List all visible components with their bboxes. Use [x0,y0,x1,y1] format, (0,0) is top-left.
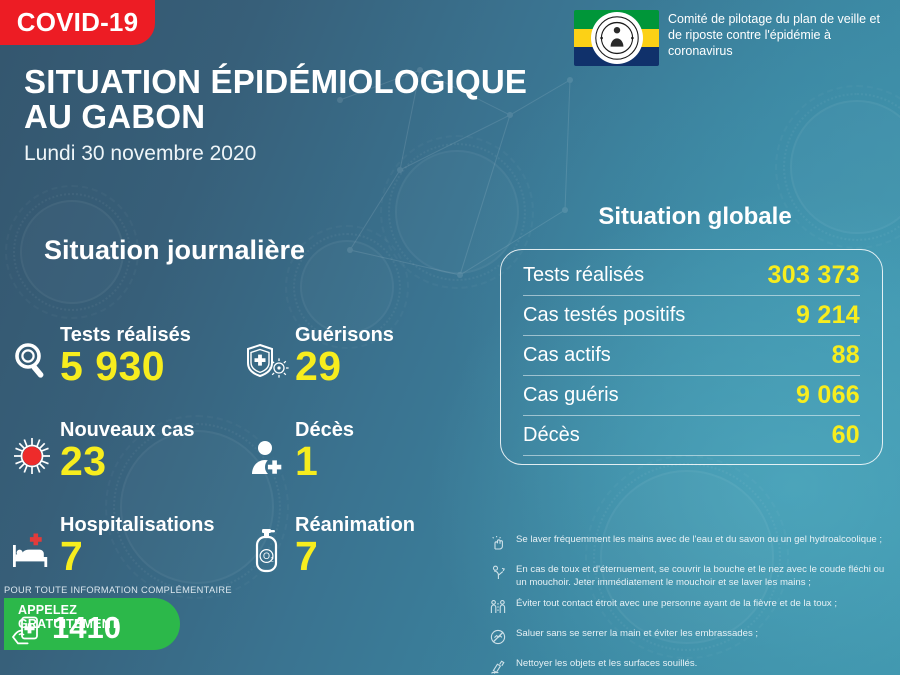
daily-stat-value: 29 [295,346,394,387]
prevention-item: En cas de toux et d'éternuement, se couv… [490,564,890,590]
prevention-item: Nettoyer les objets et les surfaces soui… [490,658,890,675]
seal-inner-icon [594,15,640,61]
global-row-label: Cas actifs [523,344,611,367]
report-date: Lundi 30 novembre 2020 [24,142,527,166]
prevention-item: Se laver fréquemment les mains avec de l… [490,534,890,556]
daily-row: Nouveaux cas 23 Décès 1 [8,387,478,482]
cough-elbow-icon [490,564,509,586]
global-row: Tests réalisés 303 373 [523,256,860,296]
virus-icon [8,422,56,482]
distance-icon [490,598,509,620]
daily-stat-icu: O 2 Réanimation 7 [243,482,478,577]
global-row-label: Cas testés positifs [523,304,685,327]
daily-section-title: Situation journalière [44,235,305,266]
covid-badge-label: COVID-19 [17,7,139,38]
global-row-label: Tests réalisés [523,264,644,287]
daily-row: Hospitalisations 7 O 2 [8,482,478,577]
person-cross-icon [243,422,291,482]
daily-stats-grid: Tests réalisés 5 930 [8,292,478,577]
shield-cross-virus-icon [243,327,291,387]
title-block: SITUATION ÉPIDÉMIOLOGIQUE AU GABON Lundi… [24,64,527,166]
daily-stat-value: 1 [295,441,354,482]
daily-stat-value: 23 [60,441,195,482]
prevention-text: Saluer sans se serrer la main et éviter … [516,628,758,641]
wash-hands-icon [490,534,509,556]
svg-text:O: O [263,551,270,561]
global-row: Cas actifs 88 [523,336,860,376]
prevention-text: Se laver fréquemment les mains avec de l… [516,534,882,547]
global-section-title: Situation globale [495,203,895,231]
page-title-line1: SITUATION ÉPIDÉMIOLOGIQUE [24,64,527,99]
gabon-coat-of-arms-icon [574,10,659,66]
clean-surface-icon [490,658,509,675]
covid-badge: COVID-19 [0,0,155,45]
global-row: Cas testés positifs 9 214 [523,296,860,336]
daily-stat-value: 5 930 [60,346,191,387]
daily-stat-recoveries: Guérisons 29 [243,292,478,387]
daily-stat-hospitalizations: Hospitalisations 7 [8,482,243,577]
global-row-label: Décès [523,424,580,447]
prevention-text: En cas de toux et d'éternuement, se couv… [516,564,890,590]
daily-stat-value: 7 [295,536,415,577]
hospital-bed-icon [8,517,56,577]
global-row-value: 60 [832,421,860,450]
daily-stat-new-cases: Nouveaux cas 23 [8,387,243,482]
global-row-value: 9 066 [796,381,860,410]
call-info-label: POUR TOUTE INFORMATION COMPLÉMENTAIRE [4,585,232,595]
prevention-text: Éviter tout contact étroit avec une pers… [516,598,837,611]
committee-logo: Comité de pilotage du plan de veille et … [574,10,886,66]
prevention-list: Se laver fréquemment les mains avec de l… [490,534,890,675]
daily-row: Tests réalisés 5 930 [8,292,478,387]
global-row-label: Cas guéris [523,384,619,407]
daily-stat-deaths: Décès 1 [243,387,478,482]
page-title-line2: AU GABON [24,99,527,134]
prevention-item: Saluer sans se serrer la main et éviter … [490,628,890,650]
daily-stat-label: Hospitalisations [60,515,214,536]
hotline-number: 1410 [52,612,121,643]
prevention-item: Éviter tout contact étroit avec une pers… [490,598,890,620]
global-row: Décès 60 [523,416,860,456]
covid-infographic: COVID-19 SITUATION ÉPIDÉMIOLOGIQUE AU GA… [0,0,900,675]
global-row-value: 9 214 [796,301,860,330]
global-section-title-label: Situation globale [598,203,791,230]
prevention-text: Nettoyer les objets et les surfaces soui… [516,658,697,671]
global-stats-panel: Tests réalisés 303 373 Cas testés positi… [500,249,883,465]
no-handshake-icon [490,628,509,650]
hand-phone-cross-icon [12,616,48,653]
hotline-box[interactable]: APPELEZ GRATUITEMENT 1410 [4,598,180,650]
magnifier-icon [8,327,56,387]
committee-name: Comité de pilotage du plan de veille et … [668,10,886,59]
daily-stat-tests: Tests réalisés 5 930 [8,292,243,387]
oxygen-tank-icon: O 2 [243,517,291,577]
global-row-value: 303 373 [768,261,860,290]
global-row: Cas guéris 9 066 [523,376,860,416]
global-row-value: 88 [832,341,860,370]
daily-stat-value: 7 [60,536,214,577]
